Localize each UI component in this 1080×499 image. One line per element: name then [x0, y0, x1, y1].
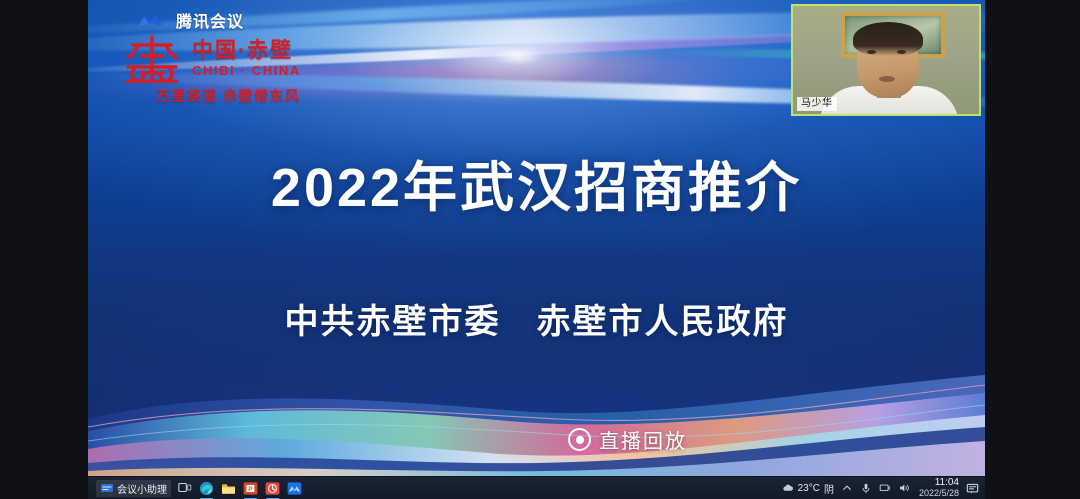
- slide-subtitle: 中共赤壁市委 赤壁市人民政府: [88, 294, 985, 343]
- chibi-brand-logo: 腾讯会议: [108, 8, 348, 112]
- wave-svg-icon: [88, 367, 985, 477]
- taskbar-meeting-assistant[interactable]: 会议小助理: [96, 480, 171, 497]
- speaker-name-label: 马少华: [797, 97, 837, 111]
- taskbar-app-powerpoint[interactable]: P: [243, 481, 258, 496]
- tencent-meeting-mark-icon: [136, 12, 170, 29]
- lens-flare-icon: [433, 26, 603, 86]
- windows-taskbar: 会议小助理: [88, 476, 985, 499]
- edge-icon: [199, 481, 214, 496]
- live-replay-label: 直播回放: [599, 425, 687, 454]
- task-view-icon[interactable]: [178, 481, 192, 495]
- powerpoint-icon: P: [243, 481, 258, 496]
- speaker-hair: [853, 22, 923, 56]
- chibi-emblem-row: 中国·赤壁 CHIBI · CHINA: [108, 34, 348, 84]
- meeting-assistant-icon: [100, 481, 114, 495]
- taskbar-left-group: 会议小助理: [88, 480, 302, 497]
- notification-icon[interactable]: [966, 482, 979, 495]
- clock-time: 11:04: [919, 478, 959, 489]
- tencent-meeting-label: 腾讯会议: [176, 8, 244, 32]
- taskbar-system-tray: 23°C 阴 1: [782, 478, 985, 498]
- record-circle-icon: [568, 428, 591, 451]
- taskbar-app-red[interactable]: [265, 481, 280, 496]
- svg-text:P: P: [248, 485, 253, 492]
- slide-title: 2022年武汉招商推介: [88, 143, 985, 222]
- taskbar-app-tencent-meeting[interactable]: [287, 481, 302, 496]
- screen: 腾讯会议: [0, 0, 1080, 499]
- file-explorer-icon: [221, 481, 236, 496]
- app-red-icon: [265, 481, 280, 496]
- chibi-slogan: 万里茶道 赤壁借东风: [108, 86, 348, 106]
- letterbox-bar-right: [985, 0, 1080, 499]
- chibi-name-en: CHIBI · CHINA: [192, 63, 301, 79]
- volume-icon[interactable]: [898, 482, 910, 494]
- letterbox-bar-left: [0, 0, 88, 499]
- microphone-icon[interactable]: [860, 482, 872, 494]
- weather-condition: 阴: [824, 481, 834, 496]
- shared-screen-region: 腾讯会议: [88, 0, 985, 499]
- chibi-seal-icon: [116, 34, 188, 84]
- meeting-assistant-label: 会议小助理: [117, 481, 167, 496]
- decorative-wave-graphic: [88, 367, 985, 477]
- speaker-eye: [897, 50, 906, 54]
- taskbar-clock[interactable]: 11:04 2022/5/28: [919, 478, 959, 498]
- chibi-wordmark: 中国·赤壁 CHIBI · CHINA: [192, 40, 301, 79]
- speaker-mouth: [879, 76, 895, 82]
- taskbar-weather-widget[interactable]: 23°C 阴: [782, 481, 834, 496]
- chibi-name-cn: 中国·赤壁: [192, 40, 301, 62]
- clock-date: 2022/5/28: [919, 489, 959, 498]
- speaker-eye: [867, 50, 876, 54]
- live-replay-badge: 直播回放: [568, 425, 687, 454]
- chevron-up-icon[interactable]: [841, 482, 853, 494]
- weather-temperature: 23°C: [798, 483, 820, 494]
- speaker-video-tile[interactable]: 马少华: [791, 4, 981, 116]
- network-icon[interactable]: [879, 482, 891, 494]
- tencent-meeting-taskbar-icon: [287, 481, 302, 496]
- taskbar-app-file-explorer[interactable]: [221, 481, 236, 496]
- cloud-icon: [782, 482, 794, 494]
- tencent-meeting-logo: 腾讯会议: [108, 8, 348, 32]
- taskbar-app-edge[interactable]: [199, 481, 214, 496]
